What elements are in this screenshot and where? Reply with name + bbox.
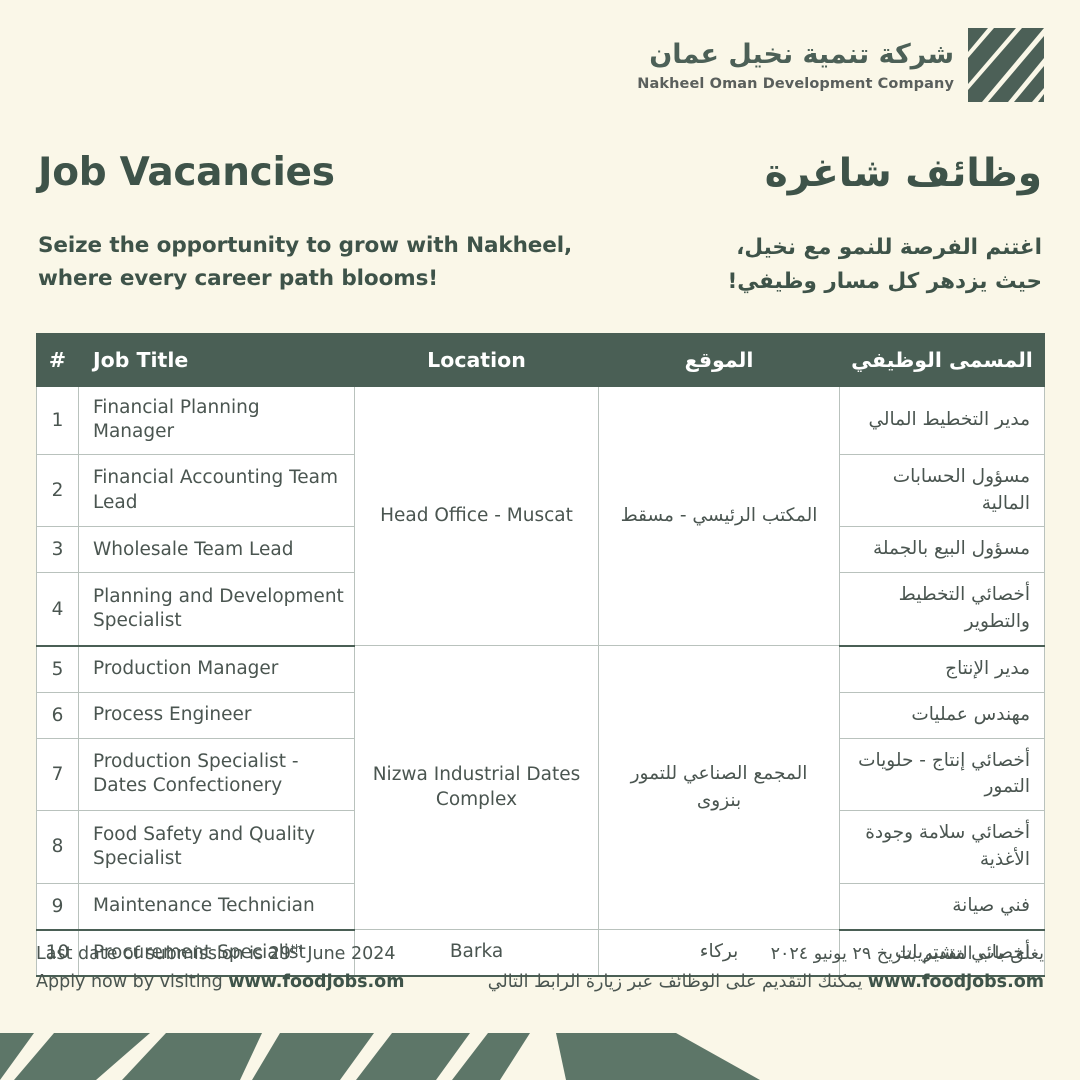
company-name-english: Nakheel Oman Development Company (637, 76, 954, 92)
page-title-english: Job Vacancies (38, 152, 572, 195)
deadline-english: Last date of submission is 29th June 202… (36, 940, 404, 968)
subtitle-english-line1: Seize the opportunity to grow with Nakhe… (38, 229, 572, 262)
subtitle-english-line2: where every career path blooms! (38, 262, 572, 295)
cell-job-title-en: Food Safety and Quality Specialist (79, 811, 355, 884)
apply-english-text: Apply now by visiting (36, 972, 228, 992)
col-header-location-ar: الموقع (599, 334, 840, 387)
cell-job-title-en: Financial Accounting Team Lead (79, 454, 355, 527)
headings-block: Job Vacancies Seize the opportunity to g… (38, 152, 1042, 317)
cell-number: 3 (37, 527, 79, 573)
cell-job-title-ar: مدير التخطيط المالي (840, 387, 1045, 455)
table-row: 5 Production Manager Nizwa Industrial Da… (37, 646, 1045, 692)
subtitle-arabic-line2: حيث يزدهر كل مسار وظيفي! (728, 265, 1043, 299)
company-name-arabic: شركة تنمية نخيل عمان (637, 38, 954, 72)
footer-block: Last date of submission is 29th June 202… (36, 940, 1044, 1006)
table-body: 1 Financial Planning Manager Head Office… (37, 387, 1045, 977)
cell-number: 9 (37, 883, 79, 929)
headings-english: Job Vacancies Seize the opportunity to g… (38, 152, 572, 296)
cell-job-title-en: Production Manager (79, 646, 355, 692)
cell-location-en: Head Office - Muscat (355, 387, 599, 646)
cell-number: 8 (37, 811, 79, 884)
cell-job-title-ar: أخصائي إنتاج - حلويات التمور (840, 738, 1045, 811)
cell-location-ar: المجمع الصناعي للتمور بنزوى (599, 646, 840, 930)
subtitle-english: Seize the opportunity to grow with Nakhe… (38, 229, 572, 296)
cell-location-ar: المكتب الرئيسي - مسقط (599, 387, 840, 646)
subtitle-arabic-line1: اغتنم الفرصة للنمو مع نخيل، (728, 231, 1043, 265)
footer-arabic: يغلق باب التقديم بتاريخ ٢٩ يونيو ٢٠٢٤ ww… (488, 940, 1044, 997)
apply-arabic: www.foodjobs.om يمكنك التقديم على الوظائ… (488, 968, 1044, 996)
cell-job-title-ar: أخصائي سلامة وجودة الأغذية (840, 811, 1045, 884)
cell-job-title-en: Maintenance Technician (79, 883, 355, 929)
deadline-english-pre: Last date of submission is 29 (36, 944, 291, 964)
deadline-arabic: يغلق باب التقديم بتاريخ ٢٩ يونيو ٢٠٢٤ (488, 940, 1044, 968)
cell-job-title-en: Financial Planning Manager (79, 387, 355, 455)
apply-arabic-url[interactable]: www.foodjobs.om (868, 968, 1044, 996)
table-row: 1 Financial Planning Manager Head Office… (37, 387, 1045, 455)
cell-number: 1 (37, 387, 79, 455)
table-header: # Job Title Location الموقع المسمى الوظي… (37, 334, 1045, 387)
subtitle-arabic: اغتنم الفرصة للنمو مع نخيل، حيث يزدهر كل… (728, 231, 1043, 300)
cell-job-title-en: Process Engineer (79, 692, 355, 738)
logo-wordmark: شركة تنمية نخيل عمان Nakheel Oman Develo… (637, 38, 954, 93)
cell-job-title-ar: أخصائي التخطيط والتطوير (840, 573, 1045, 646)
cell-number: 4 (37, 573, 79, 646)
bottom-decorative-pattern (0, 1002, 1080, 1080)
headings-arabic: وظائف شاغرة اغتنم الفرصة للنمو مع نخيل، … (728, 152, 1043, 300)
cell-number: 5 (37, 646, 79, 692)
cell-job-title-ar: مسؤول الحسابات المالية (840, 454, 1045, 527)
cell-location-en: Nizwa Industrial Dates Complex (355, 646, 599, 930)
cell-job-title-ar: مهندس عمليات (840, 692, 1045, 738)
cell-number: 2 (37, 454, 79, 527)
cell-number: 6 (37, 692, 79, 738)
company-logo: شركة تنمية نخيل عمان Nakheel Oman Develo… (637, 28, 1044, 102)
col-header-number: # (37, 334, 79, 387)
vacancies-table: # Job Title Location الموقع المسمى الوظي… (36, 333, 1045, 977)
table-header-row: # Job Title Location الموقع المسمى الوظي… (37, 334, 1045, 387)
job-vacancies-poster: شركة تنمية نخيل عمان Nakheel Oman Develo… (0, 0, 1080, 1080)
deadline-english-ordinal: th (291, 943, 302, 955)
cell-job-title-en: Planning and Development Specialist (79, 573, 355, 646)
col-header-job-title-en: Job Title (79, 334, 355, 387)
cell-job-title-ar: مدير الإنتاج (840, 646, 1045, 692)
page-title-arabic: وظائف شاغرة (728, 152, 1043, 197)
cell-number: 7 (37, 738, 79, 811)
col-header-location-en: Location (355, 334, 599, 387)
apply-english: Apply now by visiting www.foodjobs.om (36, 968, 404, 996)
deadline-english-post: June 2024 (302, 944, 396, 964)
apply-english-url[interactable]: www.foodjobs.om (228, 972, 404, 992)
apply-arabic-text: يمكنك التقديم على الوظائف عبر زيارة الرا… (488, 972, 863, 992)
cell-job-title-ar: مسؤول البيع بالجملة (840, 527, 1045, 573)
col-header-job-title-ar: المسمى الوظيفي (840, 334, 1045, 387)
vacancies-table-wrapper: # Job Title Location الموقع المسمى الوظي… (36, 333, 1044, 977)
cell-job-title-ar: فني صيانة (840, 883, 1045, 929)
diagonal-stripes-square-logo-icon (968, 28, 1044, 102)
footer-english: Last date of submission is 29th June 202… (36, 940, 404, 997)
cell-job-title-en: Wholesale Team Lead (79, 527, 355, 573)
cell-job-title-en: Production Specialist - Dates Confection… (79, 738, 355, 811)
